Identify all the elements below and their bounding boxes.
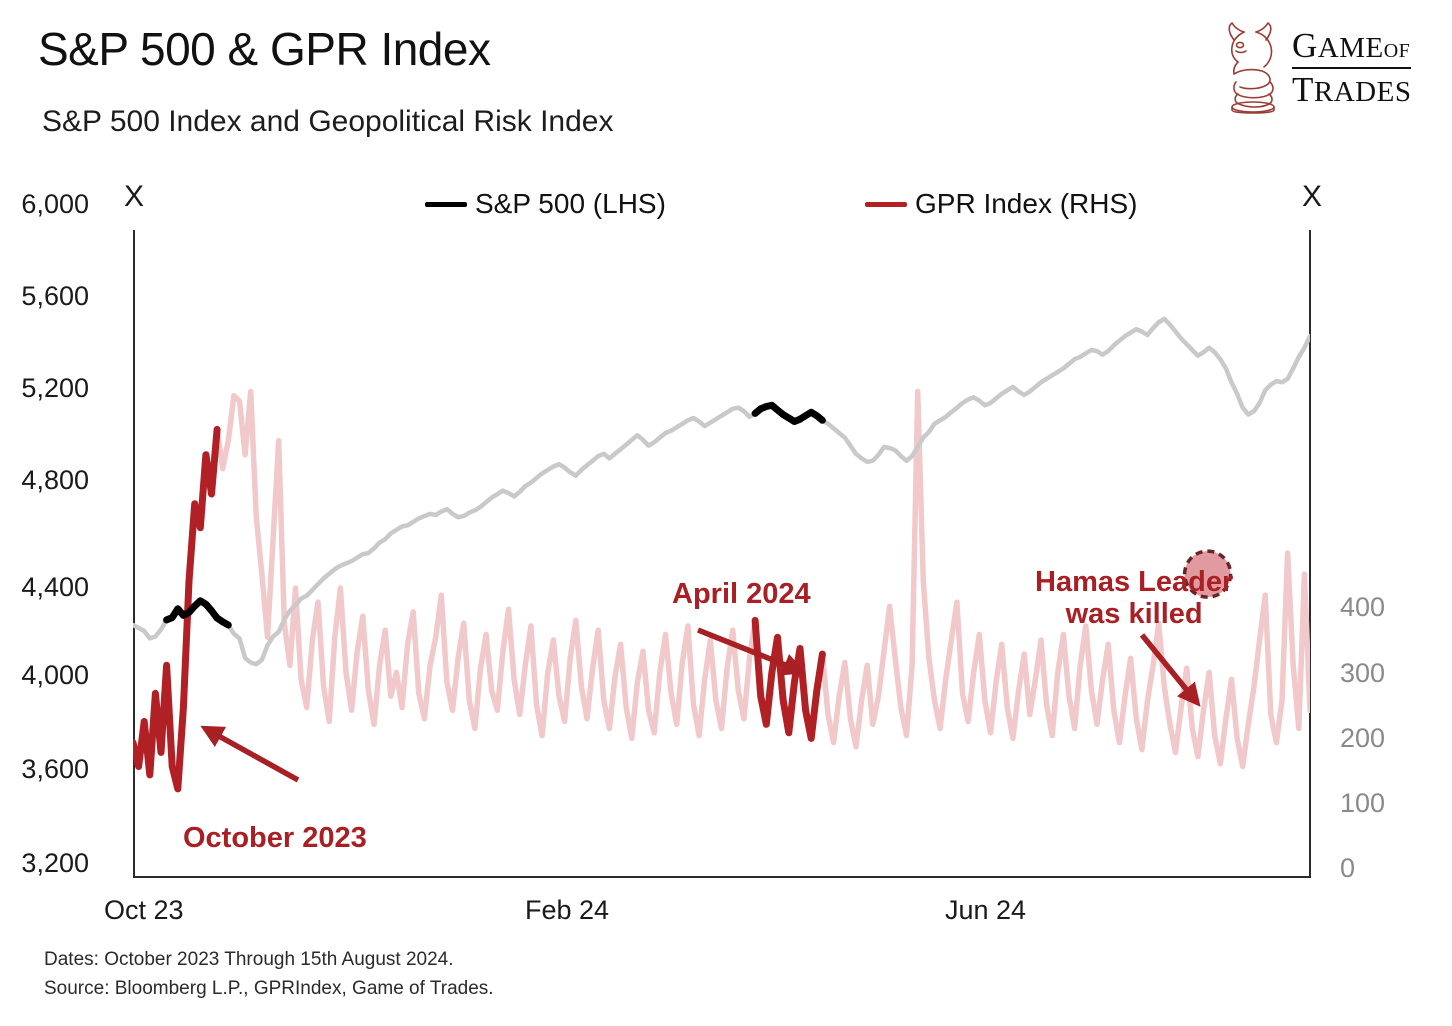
y-tick-right-200: 200 [1340,723,1385,754]
y-tick-left-5200: 5,200 [21,373,89,404]
y-tick-left-4800: 4,800 [21,465,89,496]
plot-area [133,230,1310,876]
annotation-hamas-line2: was killed [1035,598,1233,630]
right-axis-x-marker: X [1302,180,1322,214]
y-tick-right-0: 0 [1340,853,1355,884]
logo-line2-rest: RADES [1314,76,1412,108]
legend-swatch-sp500 [425,202,467,207]
logo-line1-rest: AME [1318,32,1384,64]
legend-item-sp500: S&P 500 (LHS) [425,188,666,220]
legend-swatch-gpr [865,202,907,207]
y-tick-left-4400: 4,400 [21,572,89,603]
y-tick-left-4000: 4,000 [21,660,89,691]
chart-legend: S&P 500 (LHS) GPR Index (RHS) [425,188,1145,228]
legend-label-gpr: GPR Index (RHS) [915,188,1138,220]
left-axis-x-marker: X [124,180,144,214]
footer-dates: Dates: October 2023 Through 15th August … [44,945,494,974]
annotation-hamas-leader: Hamas Leader was killed [1035,566,1233,631]
annotation-october-2023: October 2023 [183,822,367,854]
logo-line1-of: OF [1384,40,1411,62]
legend-label-sp500: S&P 500 (LHS) [475,188,666,220]
page-subtitle: S&P 500 Index and Geopolitical Risk Inde… [42,105,613,139]
logo-wordmark: GAMEOF TRADES [1292,28,1411,107]
footer-notes: Dates: October 2023 Through 15th August … [44,945,494,1004]
brand-logo: GAMEOF TRADES [1214,18,1424,118]
x-tick-feb-24: Feb 24 [525,895,609,926]
bull-knight-icon [1214,18,1290,114]
y-tick-right-400: 400 [1340,592,1385,623]
x-axis-line [133,876,1311,878]
series-canvas [133,230,1310,876]
x-tick-oct-23: Oct 23 [104,895,184,926]
page-title: S&P 500 & GPR Index [38,22,490,76]
gpr-line-highlight-april-2024 [755,620,822,738]
y-tick-left-3600: 3,600 [21,754,89,785]
sp500-line-highlight-april-2024 [755,405,822,421]
logo-line1-cap: G [1292,26,1318,65]
logo-line2-cap: T [1292,70,1314,109]
y-tick-left-6000: 6,000 [21,189,89,220]
x-tick-jun-24: Jun 24 [945,895,1026,926]
sp500-line-highlight-october-2023 [167,601,229,625]
y-tick-right-300: 300 [1340,658,1385,689]
y-tick-left-3200: 3,200 [21,848,89,879]
y-tick-right-100: 100 [1340,788,1385,819]
legend-item-gpr: GPR Index (RHS) [865,188,1138,220]
footer-source: Source: Bloomberg L.P., GPRIndex, Game o… [44,974,494,1003]
y-tick-left-5600: 5,600 [21,281,89,312]
annotation-april-2024: April 2024 [672,578,811,610]
annotation-hamas-line1: Hamas Leader [1035,566,1233,598]
